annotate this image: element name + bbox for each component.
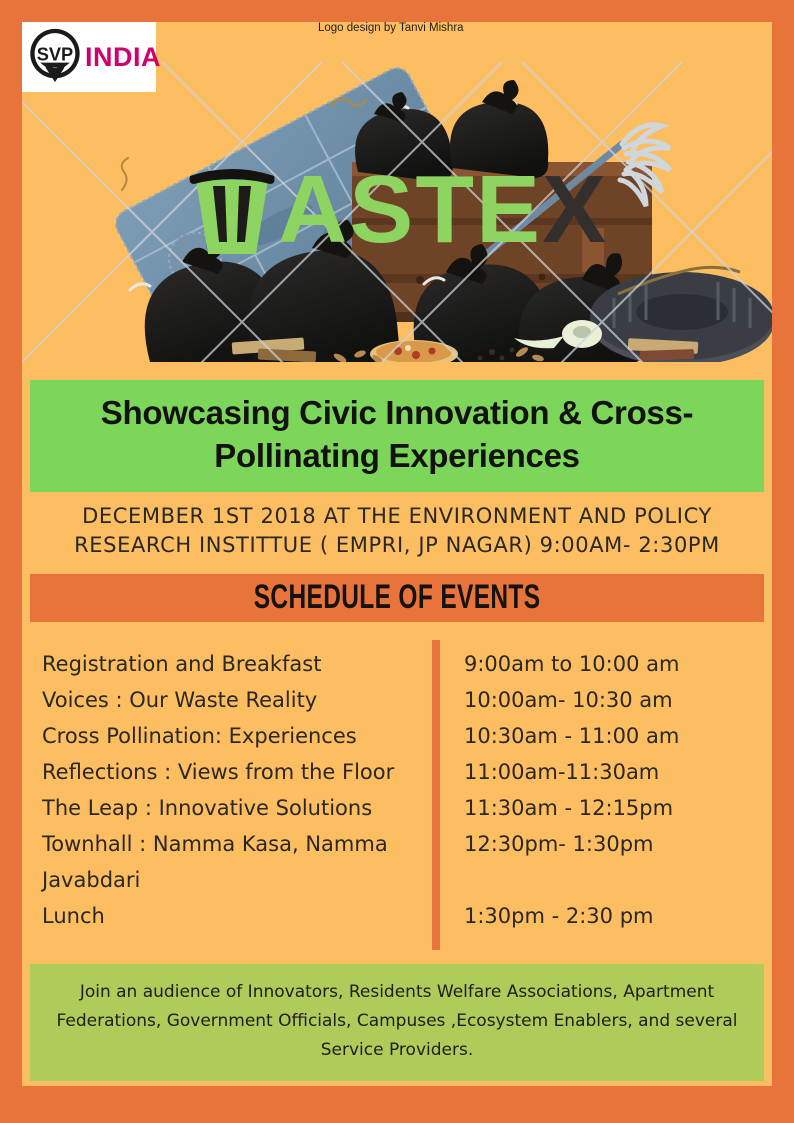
schedule-event-item: Townhall : Namma Kasa, Namma Javabdari [42,826,432,898]
schedule-event-item: Lunch [42,898,432,934]
schedule-time-item: 11:00am-11:30am [464,754,764,790]
schedule-time-item: 10:30am - 11:00 am [464,718,764,754]
hero-illustration: SVP INDIA Logo design by Tanvi Mishra AS… [22,22,772,362]
wastex-green-text: ASTE [278,156,542,263]
date-venue-line: DECEMBER 1ST 2018 AT THE ENVIRONMENT AND… [44,502,750,560]
schedule-event-item: The Leap : Innovative Solutions [42,790,432,826]
schedule-body: Registration and Breakfast Voices : Our … [22,640,772,952]
schedule-time-item: 11:30am - 12:15pm [464,790,764,826]
schedule-header-band: SCHEDULE OF EVENTS [30,574,764,622]
headline-text: Showcasing Civic Innovation & Cross-Poll… [60,392,734,478]
audience-box: Join an audience of Innovators, Resident… [30,964,764,1082]
wastex-wordmark: ASTEX [22,156,772,260]
schedule-header-label: SCHEDULE OF EVENTS [254,578,541,617]
schedule-event-item: Reflections : Views from the Floor [42,754,432,790]
svp-india-logo: SVP INDIA [22,22,156,92]
trash-bin-w-icon [186,156,278,260]
schedule-time-item: 10:00am- 10:30 am [464,682,764,718]
headline-band: Showcasing Civic Innovation & Cross-Poll… [30,380,764,492]
schedule-event-item: Registration and Breakfast [42,646,432,682]
schedule-event-item: Voices : Our Waste Reality [42,682,432,718]
logo-credit-text: Logo design by Tanvi Mishra [318,22,618,34]
schedule-time-item: 9:00am to 10:00 am [464,646,764,682]
logo-india-text: INDIA [85,44,161,71]
logo-svp-text: SVP [37,44,73,64]
schedule-times-column: 9:00am to 10:00 am 10:00am- 10:30 am 10:… [464,646,764,935]
audience-text: Join an audience of Innovators, Resident… [56,978,738,1066]
svp-pin-icon: SVP [29,28,81,86]
schedule-event-item: Cross Pollination: Experiences [42,718,432,754]
poster-inner-panel: SVP INDIA Logo design by Tanvi Mishra AS… [22,22,772,1086]
event-poster: SVP INDIA Logo design by Tanvi Mishra AS… [0,0,794,1123]
schedule-events-column: Registration and Breakfast Voices : Our … [42,646,432,935]
wastex-dark-text: X [542,156,608,263]
schedule-time-item: 1:30pm - 2:30 pm [464,898,764,934]
schedule-column-divider [432,640,440,950]
schedule-time-item: 12:30pm- 1:30pm [464,826,764,862]
